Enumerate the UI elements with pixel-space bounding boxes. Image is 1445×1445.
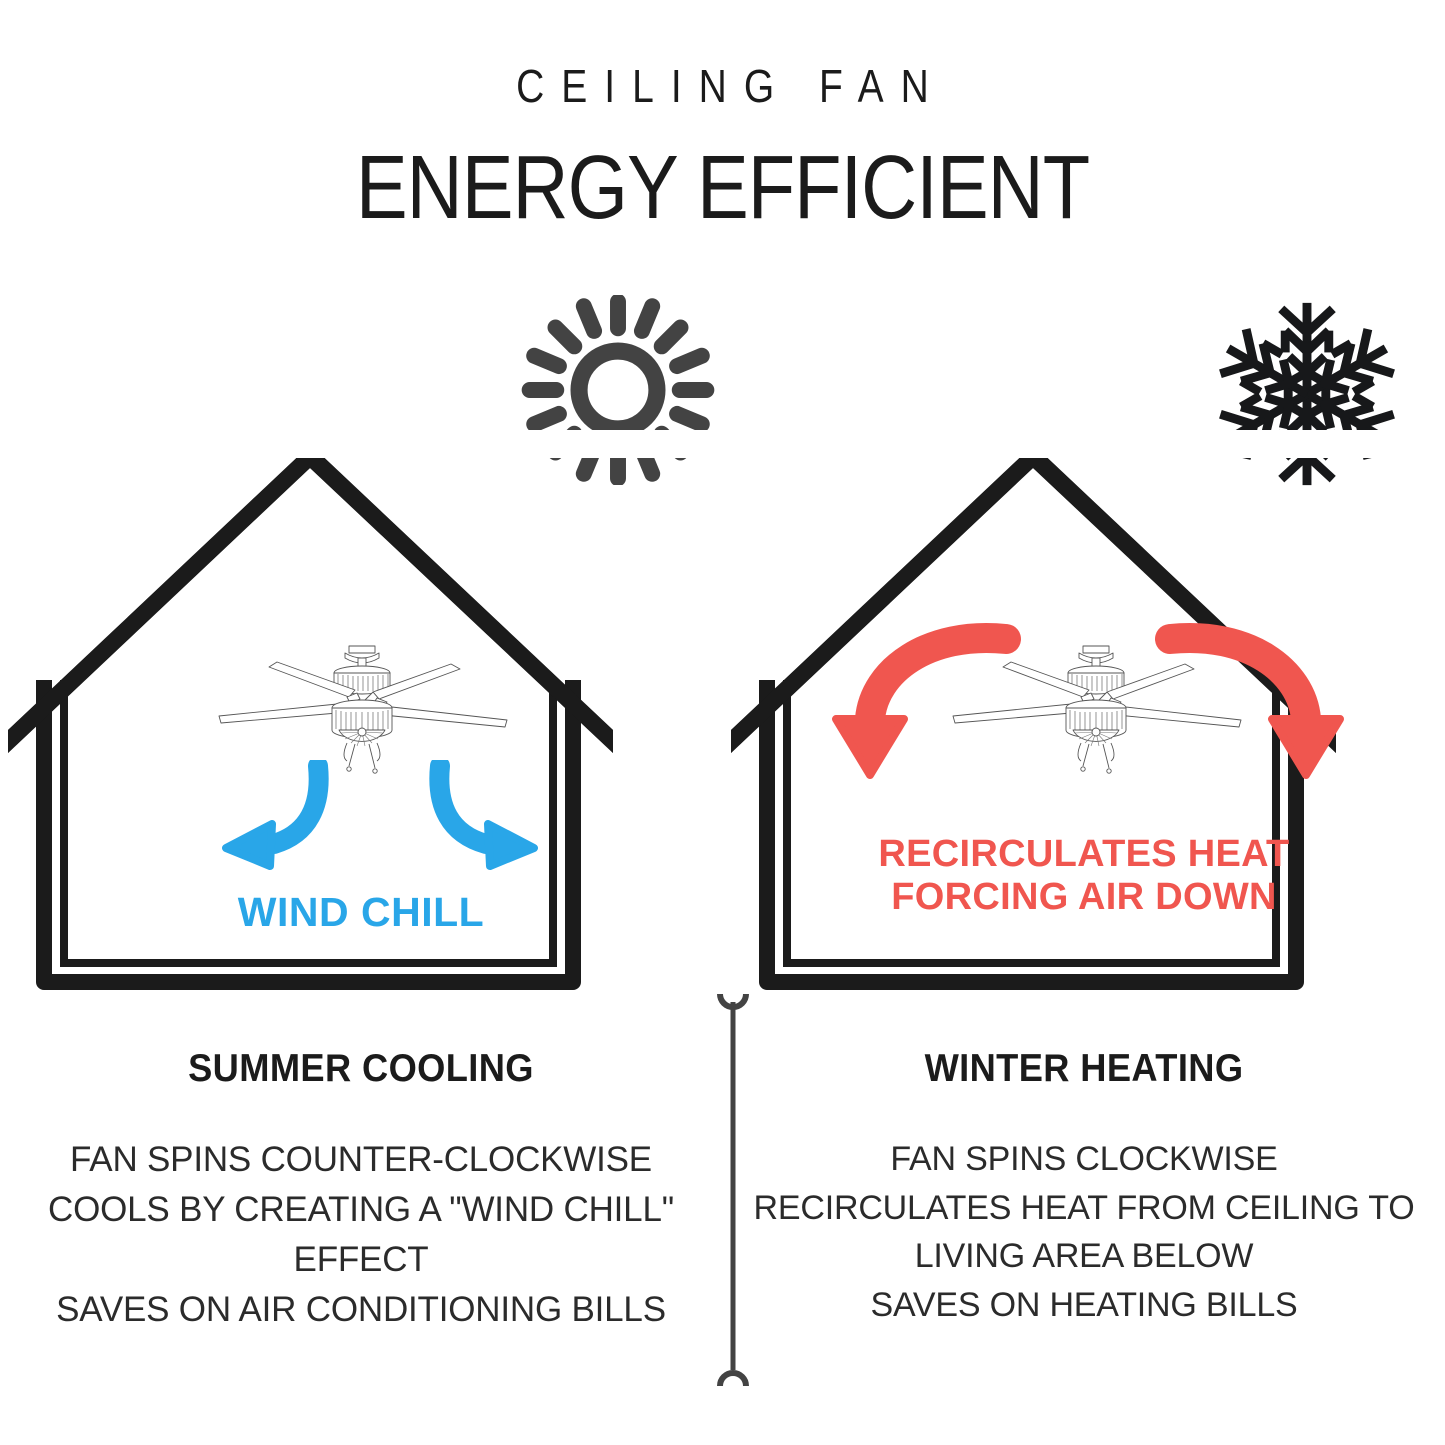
- ceiling-fan-illustration-winter: [941, 640, 1251, 790]
- heading-summer-cooling: SUMMER COOLING: [25, 1047, 696, 1091]
- body-line: LIVING AREA BELOW: [723, 1232, 1445, 1281]
- body-line: SAVES ON HEATING BILLS: [723, 1281, 1445, 1330]
- callout-wind-chill: WIND CHILL: [0, 890, 722, 936]
- center-divider: [700, 980, 766, 1400]
- callout-line: RECIRCULATES HEAT: [723, 833, 1445, 876]
- heading-winter-heating: WINTER HEATING: [748, 1047, 1419, 1091]
- semicircle-cap-down-icon: [720, 1373, 746, 1386]
- body-line: FAN SPINS COUNTER-CLOCKWISE: [0, 1135, 722, 1185]
- infographic-canvas: CEILING FAN ENERGY EFFICIENT: [0, 0, 1445, 1445]
- callout-recirculates-heat: RECIRCULATES HEAT FORCING AIR DOWN: [723, 833, 1445, 918]
- body-line: RECIRCULATES HEAT FROM CEILING TO: [723, 1184, 1445, 1233]
- body-line: COOLS BY CREATING A "WIND CHILL": [0, 1185, 722, 1235]
- panel-summer: WIND CHILL SUMMER COOLING FAN SPINS COUN…: [0, 0, 722, 1445]
- body-line: SAVES ON AIR CONDITIONING BILLS: [0, 1285, 722, 1335]
- callout-line: FORCING AIR DOWN: [723, 876, 1445, 919]
- body-line: FAN SPINS CLOCKWISE: [723, 1135, 1445, 1184]
- body-line: EFFECT: [0, 1235, 722, 1285]
- callout-line: WIND CHILL: [238, 889, 484, 935]
- body-summer-cooling: FAN SPINS COUNTER-CLOCKWISE COOLS BY CRE…: [0, 1135, 722, 1335]
- body-winter-heating: FAN SPINS CLOCKWISE RECIRCULATES HEAT FR…: [723, 1135, 1445, 1329]
- airflow-arrows-summer: [200, 760, 560, 890]
- panel-winter: RECIRCULATES HEAT FORCING AIR DOWN WINTE…: [723, 0, 1445, 1445]
